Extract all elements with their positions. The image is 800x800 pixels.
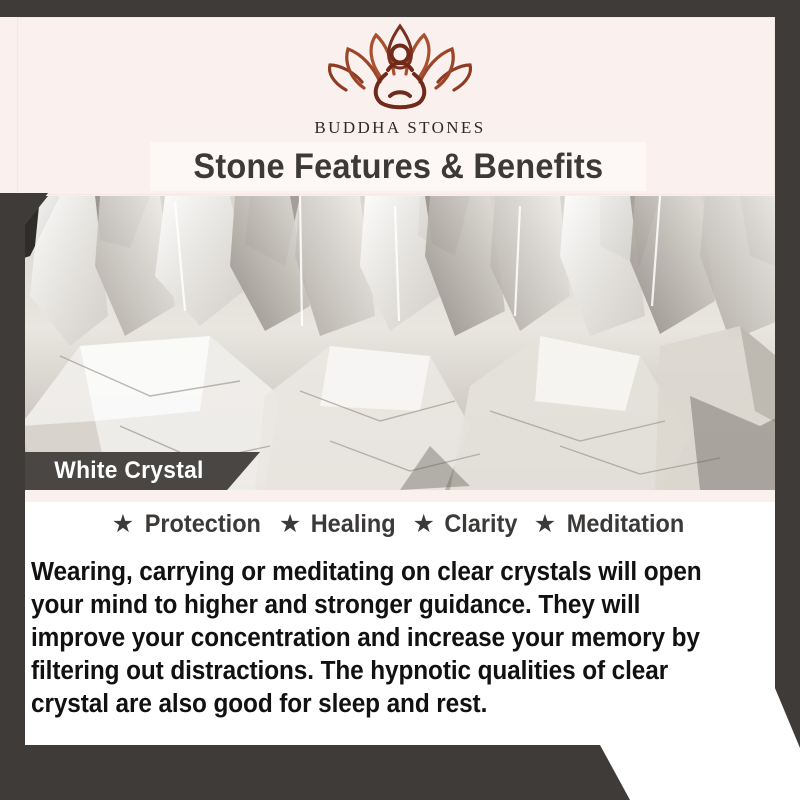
brand-logo: BUDDHA STONES (0, 16, 800, 138)
benefit-item: ★ Protection (112, 510, 265, 539)
benefit-label: Protection (145, 510, 261, 539)
stone-name-badge: White Crystal (25, 452, 260, 490)
header-section: BUDDHA STONES Stone Features & Benefits (0, 0, 800, 196)
accent-strip (25, 490, 775, 502)
star-icon: ★ (279, 512, 301, 537)
benefit-label: Healing (311, 510, 396, 539)
frame-top-bar (0, 0, 800, 17)
benefits-row: ★ Protection ★ Healing ★ Clarity ★ Medit… (0, 510, 800, 539)
benefit-item: ★ Meditation (534, 510, 688, 539)
frame-right-bar (775, 0, 800, 748)
lotus-meditation-figure-icon (0, 16, 800, 116)
benefit-label: Clarity (444, 510, 517, 539)
page-title-box: Stone Features & Benefits (150, 142, 646, 191)
benefit-item: ★ Clarity (413, 510, 520, 539)
stone-name: White Crystal (30, 457, 204, 485)
benefit-item: ★ Healing (279, 510, 399, 539)
description-text: Wearing, carrying or meditating on clear… (31, 556, 726, 721)
crystal-photo (0, 196, 800, 490)
star-icon: ★ (534, 512, 556, 537)
benefit-label: Meditation (567, 510, 685, 539)
infographic-poster: BUDDHA STONES Stone Features & Benefits (0, 0, 800, 800)
page-title: Stone Features & Benefits (193, 147, 603, 187)
frame-left-bar (0, 193, 25, 800)
star-icon: ★ (112, 512, 134, 537)
star-icon: ★ (413, 512, 435, 537)
brand-name: BUDDHA STONES (0, 118, 800, 138)
